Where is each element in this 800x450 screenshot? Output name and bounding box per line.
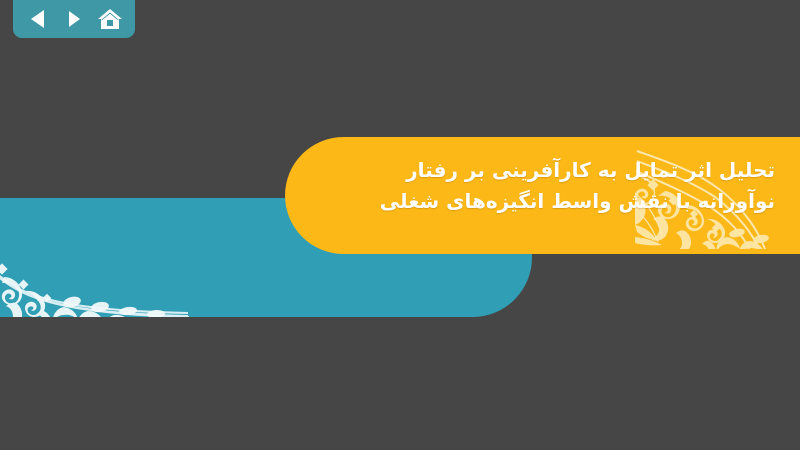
- title-line-2: نوآورانه با نقش واسط انگیزه‌های شغلی: [300, 186, 775, 217]
- triangle-left-icon: [28, 8, 48, 30]
- arabesque-corner-ornament-teal: [0, 199, 190, 317]
- forward-button[interactable]: [61, 6, 87, 32]
- navigation-toolbar: [13, 0, 135, 38]
- title-line-1: تحلیل اثر تمایل به کارآفرینی بر رفتار: [300, 155, 775, 186]
- slide-title: تحلیل اثر تمایل به کارآفرینی بر رفتار نو…: [300, 155, 775, 217]
- triangle-right-icon: [66, 8, 82, 30]
- house-icon: [97, 7, 123, 31]
- slide-canvas: تحلیل اثر تمایل به کارآفرینی بر رفتار نو…: [0, 0, 800, 450]
- back-button[interactable]: [25, 6, 51, 32]
- home-button[interactable]: [97, 6, 123, 32]
